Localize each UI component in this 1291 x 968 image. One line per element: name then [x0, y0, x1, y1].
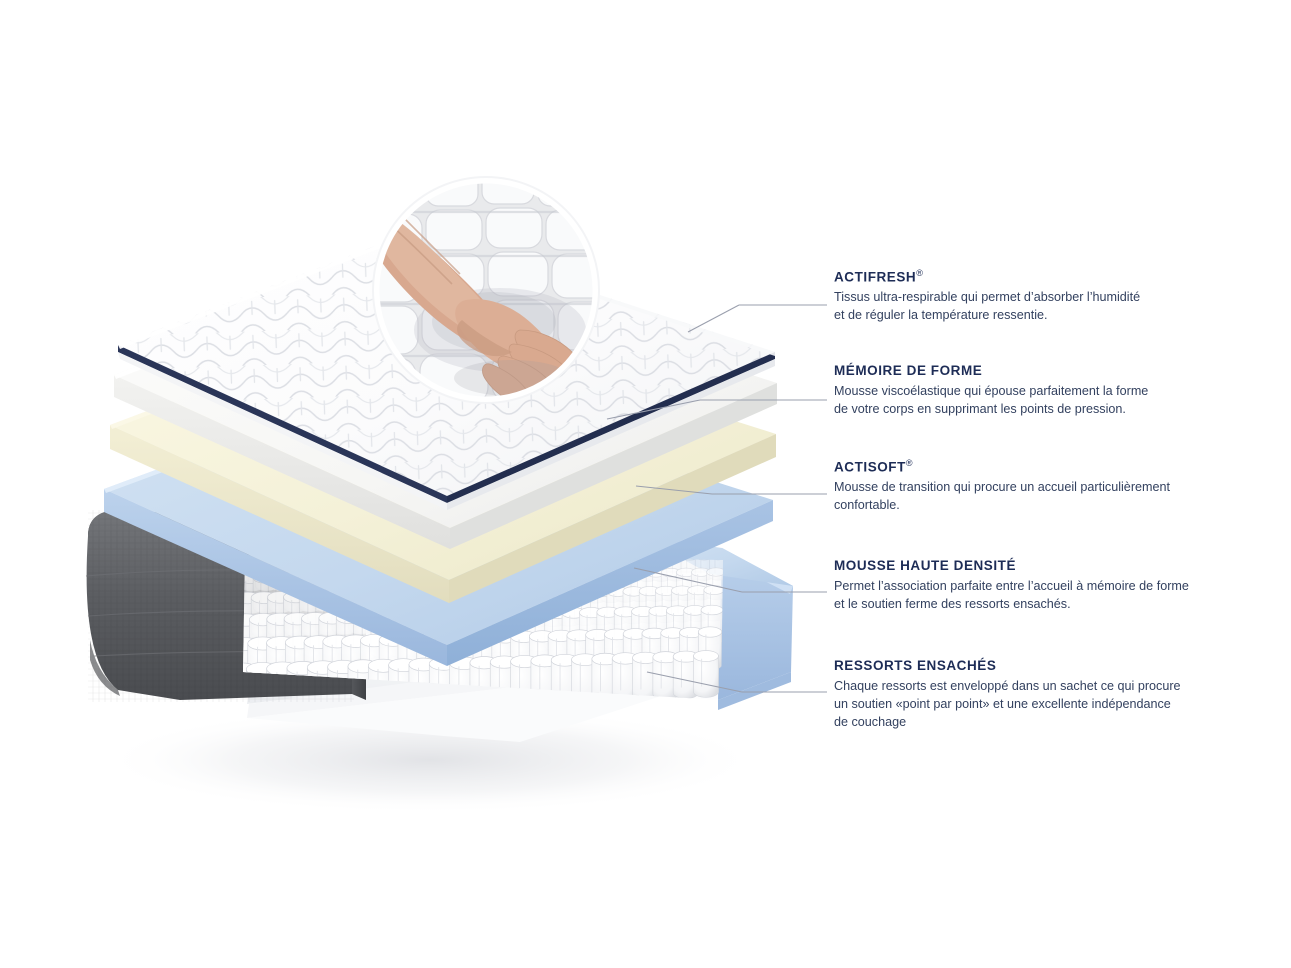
callout-ressorts-ensaches: RESSORTS ENSACHÉS Chaque ressorts est en… [834, 658, 1254, 732]
callout-title-mousse-haute-densite: MOUSSE HAUTE DENSITÉ [834, 558, 1254, 575]
callout-list: ACTIFRESH® Tissus ultra-respirable qui p… [834, 0, 1274, 968]
callout-body-actisoft: Mousse de transition qui procure un accu… [834, 479, 1254, 515]
callout-actifresh: ACTIFRESH® Tissus ultra-respirable qui p… [834, 268, 1254, 325]
callout-actisoft: ACTISOFT® Mousse de transition qui procu… [834, 458, 1254, 515]
callout-body-line: Mousse viscoélastique qui épouse parfait… [834, 383, 1254, 401]
callout-title-text: ACTIFRESH [834, 270, 916, 285]
callout-body-line: de couchage [834, 714, 1254, 732]
callout-title-text: MÉMOIRE DE FORME [834, 363, 982, 378]
callout-title-actisoft: ACTISOFT® [834, 458, 1254, 476]
callout-memoire-de-forme: MÉMOIRE DE FORME Mousse viscoélastique q… [834, 363, 1254, 419]
callout-title-memoire-de-forme: MÉMOIRE DE FORME [834, 363, 1254, 380]
callout-body-actifresh: Tissus ultra-respirable qui permet d’abs… [834, 289, 1254, 325]
callout-body-line: Chaque ressorts est enveloppé dans un sa… [834, 678, 1254, 696]
callout-body-line: Permet l’association parfaite entre l’ac… [834, 578, 1254, 596]
registered-trademark-icon: ® [906, 458, 913, 468]
callout-title-text: ACTISOFT [834, 460, 906, 475]
callout-body-memoire-de-forme: Mousse viscoélastique qui épouse parfait… [834, 383, 1254, 419]
callout-body-line: un soutien «point par point» et une exce… [834, 696, 1254, 714]
registered-trademark-icon: ® [916, 268, 923, 278]
callout-mousse-haute-densite: MOUSSE HAUTE DENSITÉ Permet l’associatio… [834, 558, 1254, 614]
callout-body-line: Tissus ultra-respirable qui permet d’abs… [834, 289, 1254, 307]
mattress-exploded-diagram [0, 0, 860, 968]
callout-body-line: et le soutien ferme des ressorts ensaché… [834, 596, 1254, 614]
callout-body-mousse-haute-densite: Permet l’association parfaite entre l’ac… [834, 578, 1254, 614]
callout-body-line: et de réguler la température ressentie. [834, 307, 1254, 325]
callout-title-ressorts-ensaches: RESSORTS ENSACHÉS [834, 658, 1254, 675]
callout-title-text: RESSORTS ENSACHÉS [834, 658, 996, 673]
callout-body-line: de votre corps en supprimant les points … [834, 401, 1254, 419]
callout-body-line: confortable. [834, 497, 1254, 515]
callout-title-text: MOUSSE HAUTE DENSITÉ [834, 558, 1016, 573]
callout-title-actifresh: ACTIFRESH® [834, 268, 1254, 286]
infographic-canvas: ACTIFRESH® Tissus ultra-respirable qui p… [0, 0, 1291, 968]
callout-body-ressorts-ensaches: Chaque ressorts est enveloppé dans un sa… [834, 678, 1254, 732]
callout-body-line: Mousse de transition qui procure un accu… [834, 479, 1254, 497]
